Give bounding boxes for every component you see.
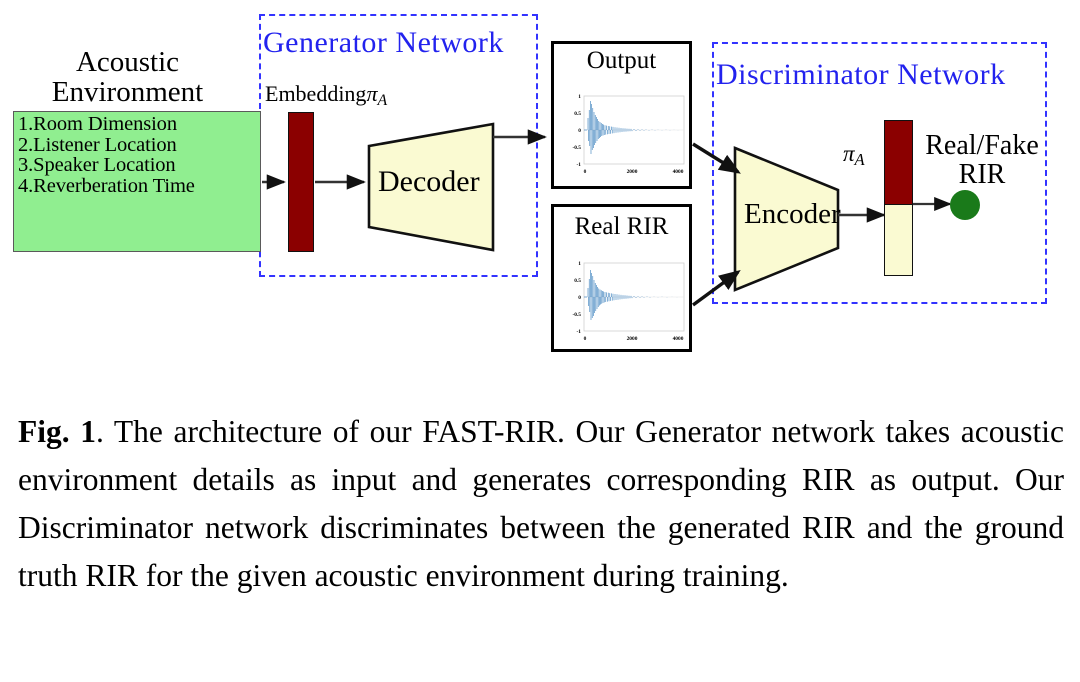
- svg-text:0: 0: [584, 336, 587, 342]
- caption-label: Fig. 1: [18, 414, 96, 449]
- svg-text:-0.5: -0.5: [572, 145, 581, 151]
- svg-text:0: 0: [578, 295, 581, 301]
- svg-text:4000: 4000: [673, 169, 684, 175]
- svg-text:1: 1: [578, 94, 581, 100]
- architecture-diagram: Generator Network Discriminator Network …: [0, 0, 1080, 380]
- pi-symbol: π: [366, 81, 377, 106]
- svg-text:0: 0: [584, 169, 587, 175]
- svg-text:2000: 2000: [627, 169, 638, 175]
- figure-page: Generator Network Discriminator Network …: [0, 0, 1080, 682]
- real-rir-plot-canvas: 1 0.5 0 -0.5 -1 0 2000 4000: [554, 255, 695, 355]
- list-item: 2.Listener Location: [18, 135, 257, 156]
- encoder-label: Encoder: [744, 198, 841, 231]
- svg-text:-1: -1: [577, 329, 582, 335]
- decoder-label: Decoder: [378, 165, 480, 199]
- list-item: 4.Reverberation Time: [18, 176, 257, 197]
- caption-text: . The architecture of our FAST-RIR. Our …: [18, 414, 1064, 593]
- acoustic-environment-heading-line1: Acoustic: [0, 48, 255, 78]
- svg-text:4000: 4000: [673, 336, 684, 342]
- embedding-label-text: Embedding: [265, 81, 366, 106]
- embedding-label: EmbeddingπA: [265, 81, 387, 110]
- pi-bar-bottom-segment: [884, 204, 913, 276]
- discriminator-network-title: Discriminator Network: [716, 58, 1006, 92]
- svg-text:0: 0: [578, 128, 581, 134]
- discriminator-pi-label: πA: [843, 141, 865, 170]
- svg-text:1: 1: [578, 261, 581, 267]
- real-fake-rir-line2: RIR: [912, 161, 1052, 190]
- real-rir-plot-title: Real RIR: [554, 213, 689, 241]
- real-rir-plot: Real RIR 1 0.5 0 -0.5 -1 0 2000 4000: [551, 204, 692, 352]
- svg-text:-0.5: -0.5: [572, 312, 581, 318]
- output-plot-title: Output: [554, 47, 689, 75]
- svg-text:0.5: 0.5: [574, 111, 581, 117]
- svg-text:0.5: 0.5: [574, 278, 581, 284]
- pi-bar-top-segment: [884, 120, 913, 205]
- real-fake-rir-line1: Real/Fake: [912, 132, 1052, 161]
- real-fake-rir-label: Real/Fake RIR: [912, 132, 1052, 189]
- svg-text:2000: 2000: [627, 336, 638, 342]
- acoustic-environment-list: 1.Room Dimension 2.Listener Location 3.S…: [13, 111, 261, 252]
- output-plot-canvas: 1 0.5 0 -0.5 -1 0 2000 4000: [554, 88, 695, 188]
- figure-caption: Fig. 1. The architecture of our FAST-RIR…: [18, 408, 1064, 600]
- generator-network-title: Generator Network: [263, 26, 504, 60]
- output-plot: Output 1 0.5 0 -0.5 -1 0 2000 4000: [551, 41, 692, 189]
- acoustic-environment-heading-line2: Environment: [0, 78, 255, 108]
- list-item: 3.Speaker Location: [18, 155, 257, 176]
- embedding-vector-bar: [288, 112, 314, 252]
- real-fake-output-dot: [950, 190, 980, 220]
- pi-symbol: π: [843, 141, 855, 166]
- svg-text:-1: -1: [577, 162, 582, 168]
- acoustic-environment-heading: Acoustic Environment: [0, 48, 255, 107]
- list-item: 1.Room Dimension: [18, 114, 257, 135]
- pi-subscript: A: [377, 92, 387, 109]
- pi-subscript: A: [855, 150, 865, 169]
